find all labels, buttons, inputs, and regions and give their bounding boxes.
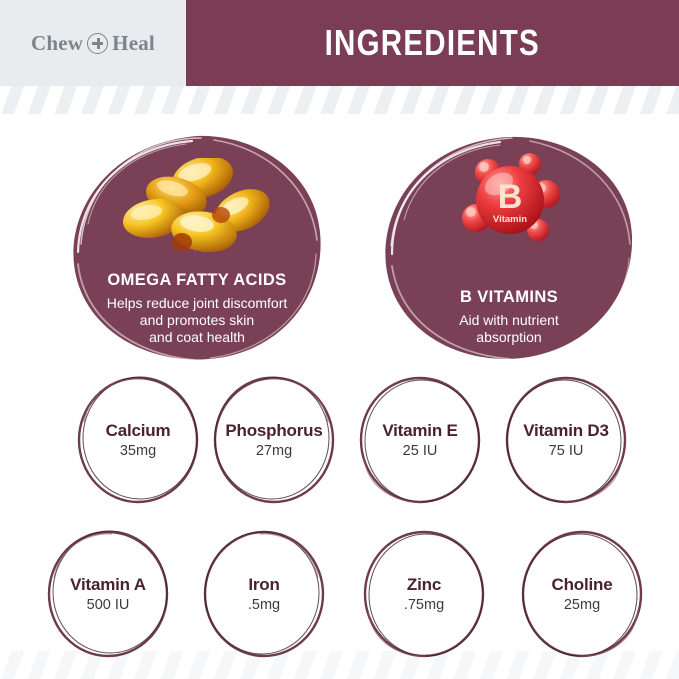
ingredient-content: Vitamin D3 75 IU — [500, 372, 632, 507]
feature-omega-title: OMEGA FATTY ACIDS — [78, 271, 316, 290]
plus-circle-icon — [87, 33, 108, 54]
brand-panel: Chew Heal — [0, 0, 186, 86]
page-title: INGREDIENTS — [325, 22, 540, 64]
feature-bvitamins-sub-line2: absorption — [390, 329, 628, 346]
ingredient-content: Iron .5mg — [198, 526, 330, 661]
ingredient-circle-vitamin-e: Vitamin E 25 IU — [354, 372, 486, 507]
ingredient-dose: 25 IU — [403, 443, 438, 459]
ingredient-circle-phosphorus: Phosphorus 27mg — [208, 372, 340, 507]
ingredient-circle-zinc: Zinc .75mg — [358, 526, 490, 661]
ingredient-name: Zinc — [407, 575, 441, 595]
feature-bvitamins-sub-line1: Aid with nutrient — [390, 312, 628, 329]
title-panel: INGREDIENTS — [186, 0, 679, 86]
ingredient-circle-vitamin-d3: Vitamin D3 75 IU — [500, 372, 632, 507]
ingredient-name: Phosphorus — [225, 421, 322, 441]
ingredient-content: Calcium 35mg — [72, 372, 204, 507]
ingredient-name: Vitamin E — [382, 421, 457, 441]
ingredient-dose: .75mg — [404, 597, 444, 613]
feature-bvitamins-text: B VITAMINS Aid with nutrient absorption — [380, 288, 638, 346]
feature-omega-text: OMEGA FATTY ACIDS Helps reduce joint dis… — [68, 271, 326, 346]
ingredient-dose: 75 IU — [549, 443, 584, 459]
feature-bvitamins-title: B VITAMINS — [390, 288, 628, 307]
ingredient-circle-calcium: Calcium 35mg — [72, 372, 204, 507]
brand-word-heal: Heal — [112, 31, 155, 56]
fish-oil-softgel-capsules-icon — [120, 158, 276, 271]
ingredient-circle-vitamin-a: Vitamin A 500 IU — [42, 526, 174, 661]
ingredient-name: Vitamin A — [70, 575, 146, 595]
ingredient-circle-iron: Iron .5mg — [198, 526, 330, 661]
ingredient-content: Zinc .75mg — [358, 526, 490, 661]
ingredient-dose: .5mg — [248, 597, 280, 613]
ingredient-name: Calcium — [106, 421, 171, 441]
ingredient-content: Vitamin E 25 IU — [354, 372, 486, 507]
header-bar: Chew Heal INGREDIENTS — [0, 0, 679, 86]
ingredient-name: Vitamin D3 — [523, 421, 609, 441]
diagonal-stripes-top — [0, 86, 679, 114]
feature-bvitamins-subtitle: Aid with nutrient absorption — [390, 312, 628, 346]
brand-word-chew: Chew — [31, 31, 83, 56]
svg-text:B: B — [498, 178, 523, 216]
feature-omega-sub-line2: and promotes skin — [78, 312, 316, 329]
svg-text:Vitamin: Vitamin — [493, 214, 527, 225]
feature-omega-sub-line3: and coat health — [78, 329, 316, 346]
ingredient-name: Iron — [248, 575, 279, 595]
ingredient-dose: 25mg — [564, 597, 600, 613]
feature-card-omega-fatty-acids: OMEGA FATTY ACIDS Helps reduce joint dis… — [68, 132, 326, 364]
ingredient-content: Choline 25mg — [516, 526, 648, 661]
ingredient-dose: 500 IU — [87, 597, 130, 613]
feature-omega-sub-line1: Helps reduce joint discomfort — [78, 295, 316, 312]
ingredient-name: Choline — [552, 575, 613, 595]
ingredient-content: Phosphorus 27mg — [208, 372, 340, 507]
ingredient-content: Vitamin A 500 IU — [42, 526, 174, 661]
ingredients-infographic: Chew Heal INGREDIENTS — [0, 0, 679, 679]
brand-logo: Chew Heal — [31, 31, 155, 56]
ingredient-dose: 27mg — [256, 443, 292, 459]
ingredient-circle-choline: Choline 25mg — [516, 526, 648, 661]
feature-omega-subtitle: Helps reduce joint discomfort and promot… — [78, 295, 316, 346]
feature-card-b-vitamins: B Vitamin B VITAMINS Aid with nutrient a… — [380, 132, 638, 364]
ingredient-dose: 35mg — [120, 443, 156, 459]
vitamin-b-molecule-sphere-icon: B Vitamin — [442, 142, 576, 275]
